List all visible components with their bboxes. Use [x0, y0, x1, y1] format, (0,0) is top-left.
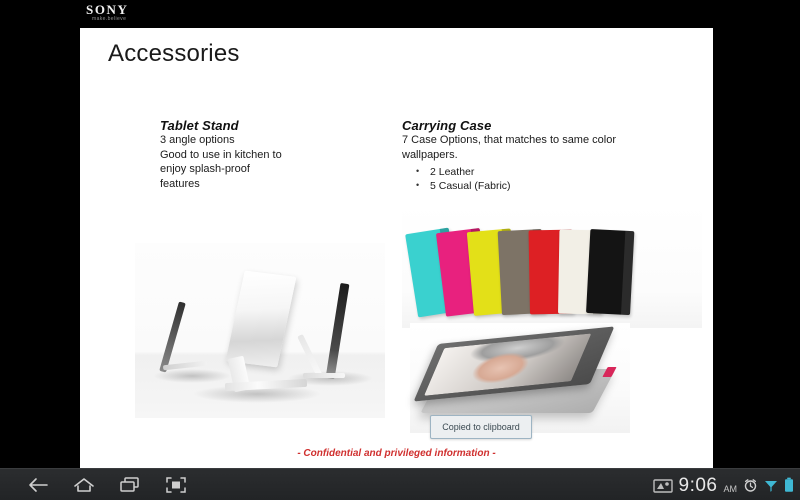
stand-leg [297, 334, 323, 378]
status-clock: 9:06 [679, 476, 718, 495]
section-body-carrying-case: 7 Case Options, that matches to same col… [402, 133, 672, 163]
wifi-signal-icon [764, 478, 778, 493]
carrying-case-photo [402, 203, 702, 328]
nav-screenshot-button[interactable] [154, 472, 198, 498]
nav-back-button[interactable] [16, 472, 60, 498]
status-bar-icons[interactable]: 9:06 AM [653, 469, 794, 500]
list-item: 2 Leather [416, 165, 672, 179]
section-heading-tablet-stand: Tablet Stand [160, 118, 360, 133]
section-carrying-case: Carrying Case 7 Case Options, that match… [402, 118, 672, 193]
body-line: wallpapers. [402, 148, 672, 163]
screenshot-icon [165, 476, 187, 494]
system-navigation-bar: 9:06 AM [0, 468, 800, 500]
tablet-slab [159, 301, 186, 372]
nav-recent-apps-button[interactable] [108, 472, 152, 498]
body-line: enjoy splash-proof [160, 162, 360, 177]
case-swatch-black [586, 229, 634, 315]
section-body-tablet-stand: 3 angle options Good to use in kitchen t… [160, 133, 360, 191]
nav-home-button[interactable] [62, 472, 106, 498]
tablet-slab [226, 271, 297, 368]
section-tablet-stand: Tablet Stand 3 angle options Good to use… [160, 118, 360, 191]
page-title: Accessories [108, 40, 240, 68]
body-line: 3 angle options [160, 133, 360, 148]
alarm-clock-icon [743, 478, 758, 493]
status-meridiem: AM [724, 485, 738, 494]
tablet-stand-right [301, 283, 375, 383]
section-heading-carrying-case: Carrying Case [402, 118, 672, 133]
sony-logo: SONY [86, 3, 129, 16]
tablet-slab [326, 283, 350, 379]
body-line: Good to use in kitchen to [160, 148, 360, 163]
case-spine [621, 231, 634, 315]
sony-brand-bar: SONY make.believe [0, 0, 800, 28]
stand-foot [303, 373, 345, 378]
tablet-stand-photo [135, 243, 385, 418]
sony-tagline: make.believe [92, 16, 126, 22]
body-line: 7 Case Options, that matches to same col… [402, 133, 672, 148]
body-line: features [160, 177, 360, 192]
back-arrow-icon [27, 476, 49, 494]
stand-foot [163, 361, 207, 371]
copied-to-clipboard-toast: Copied to clipboard [430, 415, 532, 439]
presentation-slide[interactable]: Accessories Tablet Stand 3 angle options… [80, 28, 713, 468]
recent-apps-icon [119, 476, 141, 494]
carrying-case-bullet-list: 2 Leather 5 Casual (Fabric) [416, 165, 672, 193]
tablet-stand-left [159, 301, 219, 379]
screenshot-capture-icon[interactable] [653, 478, 673, 493]
tablet-screen: SONY make.believe Accessories Tablet Sta… [0, 0, 800, 500]
slide-footer: - Confidential and privileged informatio… [80, 448, 713, 459]
home-icon [73, 476, 95, 494]
battery-full-icon [784, 477, 794, 493]
toast-message: Copied to clipboard [442, 422, 520, 432]
list-item: 5 Casual (Fabric) [416, 179, 672, 193]
